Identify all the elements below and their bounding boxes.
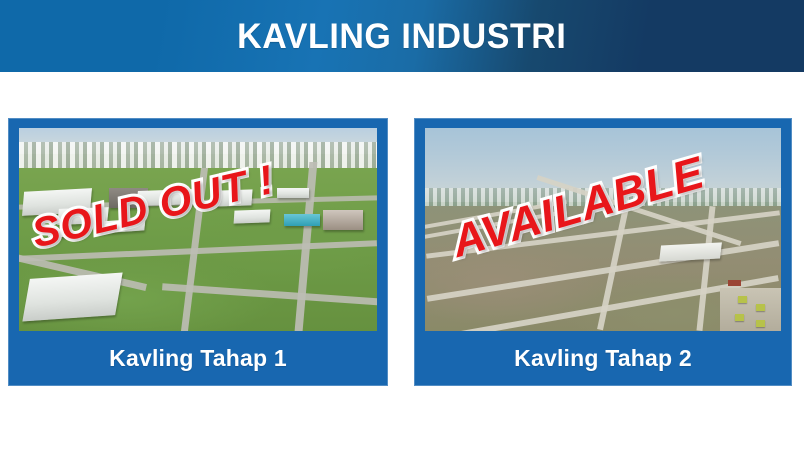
- parked-vehicle: [756, 304, 765, 311]
- red-roof-structure: [728, 280, 741, 286]
- card-caption-kavling-tahap-2: Kavling Tahap 2: [425, 331, 781, 386]
- parked-vehicle: [756, 320, 765, 327]
- parked-vehicle: [735, 314, 744, 321]
- warehouse-building: [277, 188, 309, 198]
- card-kavling-tahap-2[interactable]: AVAILABLE Kavling Tahap 2: [414, 118, 792, 386]
- kavling-cards-row: SOLD OUT ! Kavling Tahap 1: [0, 118, 804, 386]
- warehouse-building: [659, 242, 721, 261]
- card-caption-kavling-tahap-1: Kavling Tahap 1: [19, 331, 377, 386]
- warehouse-building: [323, 210, 362, 230]
- page-title: KAVLING INDUSTRI: [237, 19, 566, 54]
- page-header-banner: KAVLING INDUSTRI: [0, 0, 804, 72]
- card-kavling-tahap-1[interactable]: SOLD OUT ! Kavling Tahap 1: [8, 118, 388, 386]
- warehouse-building: [233, 209, 270, 223]
- equipment-yard: [720, 288, 781, 331]
- photo-kavling-tahap-2: AVAILABLE: [425, 128, 781, 331]
- warehouse-building: [284, 214, 320, 226]
- kavling-industri-page: KAVLING INDUSTRI: [0, 0, 804, 452]
- photo-kavling-tahap-1: SOLD OUT !: [19, 128, 377, 331]
- parked-vehicle: [738, 296, 747, 303]
- warehouse-building: [23, 272, 123, 321]
